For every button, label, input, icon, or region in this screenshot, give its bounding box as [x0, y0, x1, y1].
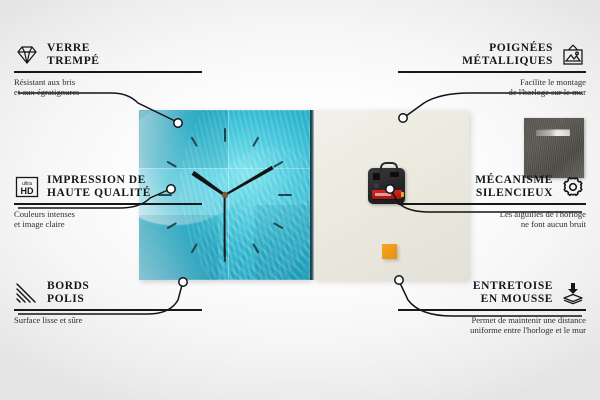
press-down-layers-icon [560, 281, 586, 305]
feature-title-line1: POIGNÉES [489, 42, 553, 54]
feature-verre-trempe: VERRE TREMPÉ Résistant aux bris et aux é… [14, 42, 202, 98]
feature-rule [398, 309, 586, 311]
gear-icon [560, 175, 586, 199]
feature-rule [14, 203, 202, 205]
feature-title-line1: BORDS [47, 280, 89, 292]
feature-entretoise-en-mousse: ENTRETOISE EN MOUSSE Permet de maintenir… [398, 280, 586, 336]
ultra-hd-icon: ultra HD [14, 175, 40, 199]
feature-desc-line2: et aux égratignures [14, 87, 79, 97]
feature-title-line2: TREMPÉ [47, 55, 100, 67]
picture-frame-icon [560, 43, 586, 67]
feature-title-line1: ENTRETOISE [473, 280, 553, 292]
plate-slot [536, 129, 570, 136]
feature-title-line2: HAUTE QUALITÉ [47, 187, 151, 199]
feature-rule [398, 71, 586, 73]
feature-title-line2: EN MOUSSE [481, 293, 553, 305]
product-infographic: VERRE TREMPÉ Résistant aux bris et aux é… [0, 0, 600, 400]
feature-rule [14, 309, 202, 311]
feature-bords-polis: BORDS POLIS Surface lisse et sûre [14, 280, 202, 325]
mechanism-detail [373, 173, 380, 180]
feature-title-line2: SILENCIEUX [476, 187, 553, 199]
feature-desc-line2: de l'horloge sur le mur [509, 87, 586, 97]
feature-rule [14, 71, 202, 73]
feature-rule [398, 203, 586, 205]
battery-label [375, 193, 391, 196]
feature-title-line2: POLIS [47, 293, 84, 305]
feature-title-line1: VERRE [47, 42, 90, 54]
metal-hanging-plate [524, 118, 584, 178]
clock-tick [224, 195, 226, 262]
feature-mecanisme-silencieux: MÉCANISME SILENCIEUX Les aiguilles de l'… [398, 174, 586, 230]
diagonal-lines-icon [14, 281, 40, 305]
svg-text:HD: HD [21, 186, 34, 196]
feature-desc-line1: Permet de maintenir une distance [471, 315, 586, 325]
feature-desc-line1: Couleurs intenses [14, 209, 75, 219]
clock-tick [224, 128, 226, 195]
feature-title-line1: IMPRESSION DE [47, 174, 146, 186]
feature-desc-line2: et image claire [14, 219, 65, 229]
feature-title-line2: MÉTALLIQUES [462, 55, 553, 67]
feature-desc-line1: Facilite le montage [520, 77, 586, 87]
diamond-icon [14, 43, 40, 67]
feature-desc-line1: Les aiguilles de l'horloge [500, 209, 586, 219]
feature-title-line1: MÉCANISME [475, 174, 553, 186]
feature-desc-line2: uniforme entre l'horloge et le mur [470, 325, 586, 335]
feature-impression-haute-qualite: ultra HD IMPRESSION DE HAUTE QUALITÉ Cou… [14, 174, 202, 230]
feature-poignees-metalliques: POIGNÉES MÉTALLIQUES Facilite le montage… [398, 42, 586, 98]
mechanism-hook [380, 162, 398, 172]
clock-tick [225, 194, 292, 196]
feature-desc-line1: Surface lisse et sûre [14, 315, 83, 325]
foam-spacer [382, 244, 397, 259]
feature-desc-line1: Résistant aux bris [14, 77, 75, 87]
feature-desc-line2: ne font aucun bruit [521, 219, 586, 229]
mechanism-detail [374, 183, 379, 188]
